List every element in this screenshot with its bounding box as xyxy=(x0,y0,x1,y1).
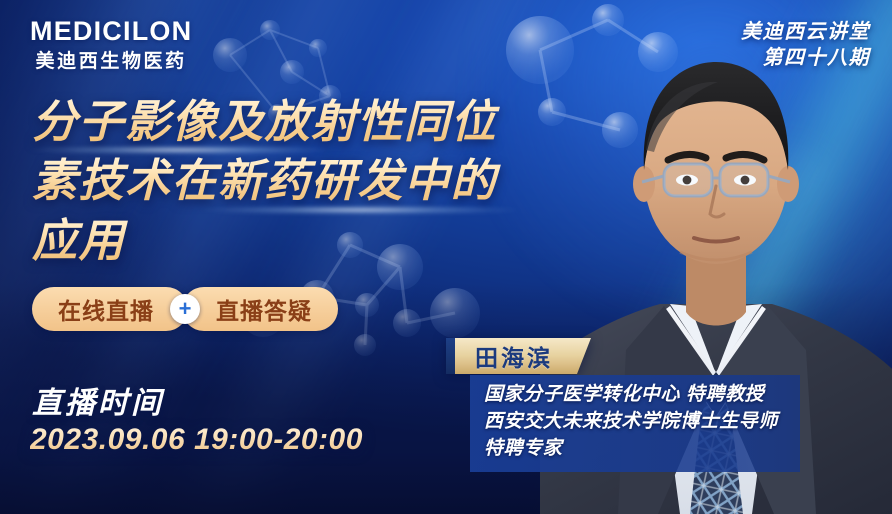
series-line-2: 第四十八期 xyxy=(741,46,870,72)
banner-skew xyxy=(577,338,591,374)
speaker-credentials: 国家分子医学转化中心 特聘教授 西安交大未来技术学院博士生导师 特聘专家 xyxy=(470,375,800,472)
title-sheen-icon xyxy=(30,146,330,154)
page-title: 分子影像及放射性同位 素技术在新药研发中的 应用 xyxy=(32,92,592,270)
banner-cap xyxy=(446,338,455,374)
schedule-label: 直播时间 xyxy=(32,378,164,422)
plus-icon: + xyxy=(170,294,200,324)
badge-live-qa[interactable]: 直播答疑 xyxy=(182,287,338,331)
credential-line-1: 国家分子医学转化中心 特聘教授 xyxy=(484,382,778,409)
title-sheen-icon xyxy=(200,206,520,214)
webinar-poster: MEDICILON 美迪西生物医药 美迪西云讲堂 第四十八期 分子影像及放射性同… xyxy=(0,0,892,514)
credential-line-3: 特聘专家 xyxy=(484,436,778,463)
brand-logo-cn: 美迪西生物医药 xyxy=(30,52,192,71)
title-line-2: 素技术在新药研发中的 xyxy=(32,151,592,210)
speaker-name: 田海滨 xyxy=(455,338,577,374)
badge-live-stream[interactable]: 在线直播 xyxy=(32,287,188,331)
credential-line-2: 西安交大未来技术学院博士生导师 xyxy=(484,409,778,436)
speaker-name-banner: 田海滨 xyxy=(446,338,591,374)
brand-logo-en: MEDICILON xyxy=(30,18,192,45)
schedule-datetime: 2023.09.06 19:00-20:00 xyxy=(30,423,363,457)
title-line-3: 应用 xyxy=(32,211,592,270)
brand-logo: MEDICILON 美迪西生物医药 xyxy=(30,18,192,71)
badge-group: 在线直播 + 直播答疑 xyxy=(32,287,338,331)
series-label: 美迪西云讲堂 第四十八期 xyxy=(741,20,870,71)
title-line-1: 分子影像及放射性同位 xyxy=(32,92,592,151)
series-line-1: 美迪西云讲堂 xyxy=(741,20,870,46)
